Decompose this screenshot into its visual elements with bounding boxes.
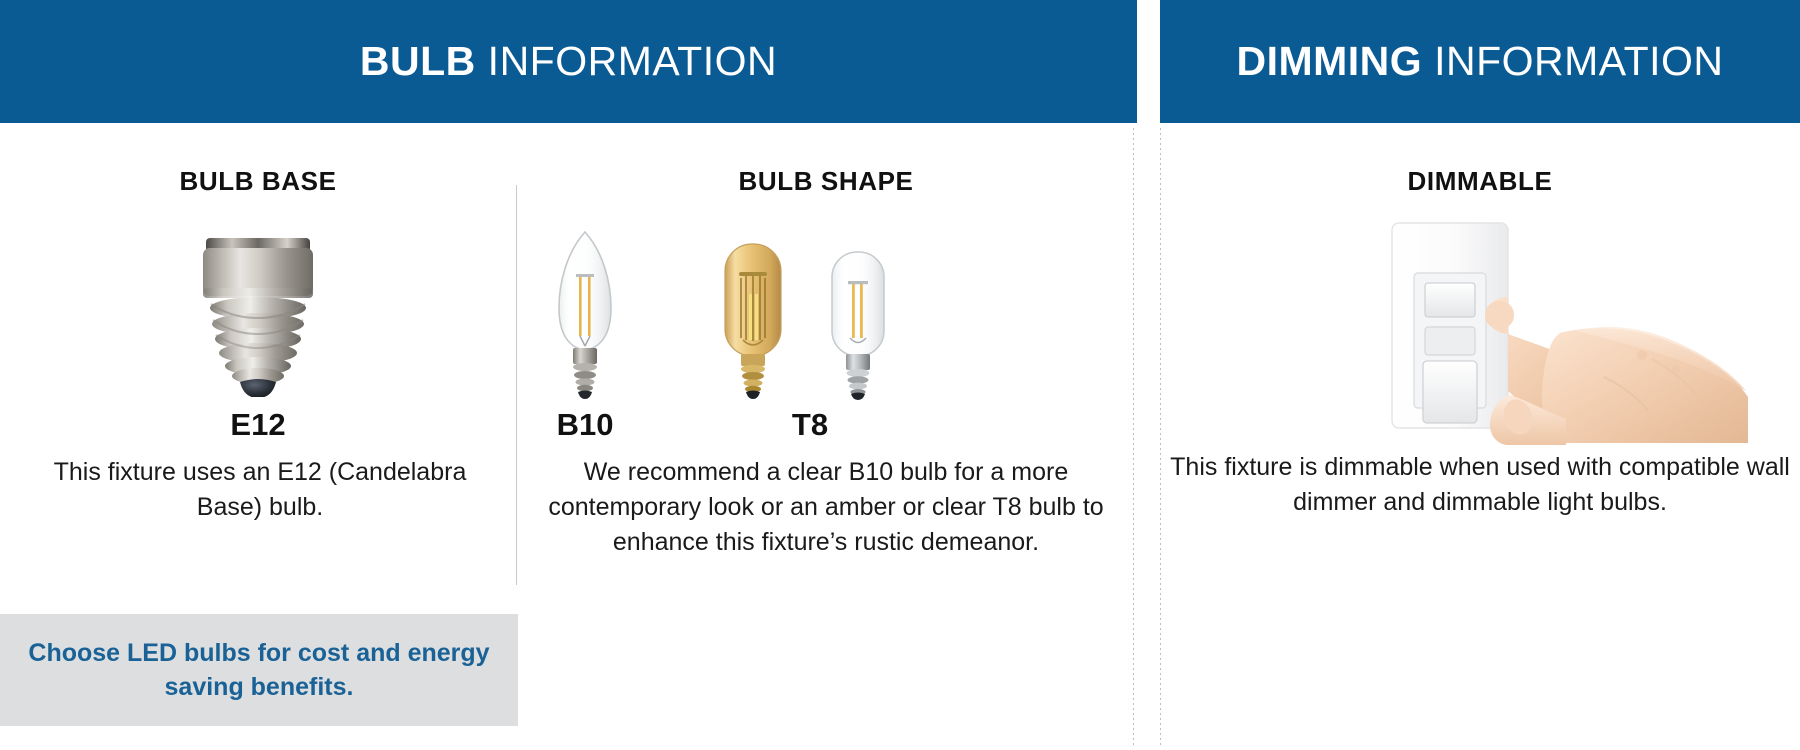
bulb-shape-heading: BULB SHAPE	[516, 166, 1136, 197]
bulb-base-paragraph: This fixture uses an E12 (Candelabra Bas…	[20, 455, 500, 525]
bulb-base-label: E12	[0, 407, 516, 443]
led-callout-text: Choose LED bulbs for cost and energy sav…	[0, 636, 518, 704]
dimmable-paragraph: This fixture is dimmable when used with …	[1160, 450, 1800, 520]
bulb-base-heading: BULB BASE	[0, 166, 516, 197]
dimming-information-header: DIMMING INFORMATION	[1160, 0, 1800, 123]
bulb-shape-paragraph: We recommend a clear B10 bulb for a more…	[516, 455, 1136, 560]
header-bold-word: DIMMING	[1236, 38, 1422, 84]
wall-dimmer-switch-icon	[1390, 205, 1750, 445]
header-bold-word: BULB	[360, 38, 476, 84]
led-callout-box: Choose LED bulbs for cost and energy sav…	[0, 614, 518, 726]
panel-dotted-divider-right	[1160, 128, 1161, 746]
bulb-shape-label-t8: T8	[722, 407, 898, 443]
dimming-information-title: DIMMING INFORMATION	[1236, 38, 1723, 85]
header-light-word: INFORMATION	[488, 38, 777, 84]
bulb-information-header: BULB INFORMATION	[0, 0, 1137, 123]
infographic-page: BULB INFORMATION DIMMING INFORMATION BUL…	[0, 0, 1800, 750]
dimmable-heading: DIMMABLE	[1160, 166, 1800, 197]
t8-amber-tube-bulb-icon	[715, 242, 791, 400]
panel-dotted-divider-left	[1133, 128, 1134, 746]
bulb-information-title: BULB INFORMATION	[360, 38, 777, 85]
e12-candelabra-base-icon	[178, 232, 338, 397]
bulb-shape-label-b10: B10	[497, 407, 673, 443]
b10-clear-candle-bulb-icon	[537, 230, 633, 400]
header-light-word: INFORMATION	[1434, 38, 1723, 84]
t8-clear-tube-bulb-icon	[824, 250, 892, 400]
